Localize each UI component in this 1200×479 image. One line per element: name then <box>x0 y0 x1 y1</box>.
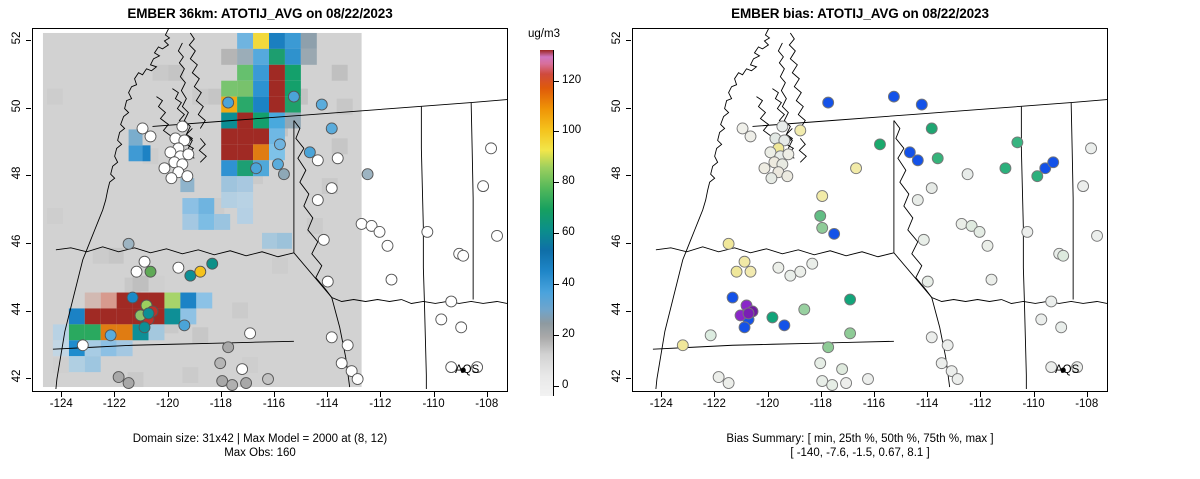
y-axis-tick <box>626 311 631 312</box>
y-axis-label: 48 <box>611 158 623 188</box>
y-axis-tick <box>626 243 631 244</box>
colorbar-tick-label: 80 <box>562 175 575 187</box>
x-axis-tick <box>327 392 328 397</box>
colorbar-tick-label: 100 <box>562 124 581 136</box>
y-axis-label: 46 <box>611 226 623 256</box>
x-axis-label: -124 <box>41 398 81 410</box>
figure-root: EMBER 36km: ATOTIJ_AVG on 08/22/2023 <box>0 0 1200 479</box>
colorbar-tick-label: 60 <box>562 226 575 238</box>
x-axis-tick <box>1087 392 1088 397</box>
x-axis-tick <box>114 392 115 397</box>
x-axis-tick <box>487 392 488 397</box>
y-axis-tick <box>26 243 31 244</box>
y-axis-tick <box>26 108 31 109</box>
x-axis-label: -118 <box>801 398 841 410</box>
map-canvas-bias <box>633 29 1107 391</box>
x-axis-label: -114 <box>907 398 947 410</box>
colorbar-tick <box>553 182 559 183</box>
map-canvas-model <box>33 29 507 391</box>
aqs-legend-label-model: AQS <box>455 364 479 376</box>
x-axis-label: -112 <box>360 398 400 410</box>
colorbar-tick <box>553 81 559 82</box>
map-plot-model <box>32 28 508 392</box>
x-axis-label: -110 <box>1014 398 1054 410</box>
x-axis-tick <box>874 392 875 397</box>
x-axis-tick <box>61 392 62 397</box>
x-axis-tick <box>168 392 169 397</box>
x-axis-label: -124 <box>641 398 681 410</box>
y-axis-tick <box>626 108 631 109</box>
colorbar-units-model: ug/m3 <box>528 28 560 40</box>
x-axis-tick <box>380 392 381 397</box>
y-axis-label: 46 <box>11 226 23 256</box>
y-axis-tick <box>26 311 31 312</box>
colorbar-tick <box>553 284 559 285</box>
panel-title-model: EMBER 36km: ATOTIJ_AVG on 08/22/2023 <box>0 6 520 21</box>
x-axis-tick <box>927 392 928 397</box>
caption-bias-summary-values: [ -140, -7.6, -1.5, 0.67, 8.1 ] <box>600 446 1120 460</box>
x-axis-tick <box>274 392 275 397</box>
x-axis-label: -112 <box>960 398 1000 410</box>
colorbar-tick <box>553 386 559 387</box>
colorbar-tick-label: 0 <box>562 379 568 391</box>
x-axis-label: -118 <box>201 398 241 410</box>
x-axis-tick <box>768 392 769 397</box>
colorbar-gradient-model <box>540 50 553 396</box>
x-axis-label: -110 <box>414 398 454 410</box>
y-axis-tick <box>626 175 631 176</box>
x-axis-tick <box>434 392 435 397</box>
x-axis-label: -122 <box>94 398 134 410</box>
y-axis-label: 42 <box>11 361 23 391</box>
y-axis-tick <box>26 175 31 176</box>
y-axis-tick <box>26 378 31 379</box>
x-axis-label: -116 <box>254 398 294 410</box>
y-axis-tick <box>26 40 31 41</box>
x-axis-tick <box>1034 392 1035 397</box>
x-axis-label: -114 <box>307 398 347 410</box>
panel-bias: EMBER bias: ATOTIJ_AVG on 08/22/2023 <box>600 0 1200 479</box>
x-axis-label: -108 <box>1067 398 1107 410</box>
y-axis-label: 50 <box>11 91 23 121</box>
x-axis-tick <box>661 392 662 397</box>
y-axis-label: 52 <box>11 23 23 53</box>
x-axis-tick <box>221 392 222 397</box>
y-axis-label: 44 <box>11 294 23 324</box>
colorbar-tick-label: 120 <box>562 74 581 86</box>
caption-max-obs: Max Obs: 160 <box>0 446 520 460</box>
x-axis-label: -108 <box>467 398 507 410</box>
colorbar-tick-label: 20 <box>562 328 575 340</box>
map-plot-bias <box>632 28 1108 392</box>
y-axis-label: 48 <box>11 158 23 188</box>
bias-background <box>633 29 1107 391</box>
y-axis-label: 50 <box>611 91 623 121</box>
colorbar-tick-label: 40 <box>562 277 575 289</box>
caption-domain-size: Domain size: 31x42 | Max Model = 2000 at… <box>0 432 520 446</box>
x-axis-label: -120 <box>748 398 788 410</box>
x-axis-tick <box>821 392 822 397</box>
y-axis-label: 52 <box>611 23 623 53</box>
x-axis-tick <box>980 392 981 397</box>
caption-bias-summary-header: Bias Summary: [ min, 25th %, 50th %, 75t… <box>600 432 1120 446</box>
colorbar-tick <box>553 335 559 336</box>
x-axis-label: -116 <box>854 398 894 410</box>
panel-title-bias: EMBER bias: ATOTIJ_AVG on 08/22/2023 <box>600 6 1120 21</box>
y-axis-tick <box>626 40 631 41</box>
y-axis-tick <box>626 378 631 379</box>
colorbar-tick <box>553 131 559 132</box>
y-axis-label: 44 <box>611 294 623 324</box>
x-axis-label: -120 <box>148 398 188 410</box>
panel-model: EMBER 36km: ATOTIJ_AVG on 08/22/2023 <box>0 0 600 479</box>
colorbar-tick <box>553 233 559 234</box>
x-axis-tick <box>714 392 715 397</box>
colorbar-axis-model <box>553 50 554 396</box>
x-axis-label: -122 <box>694 398 734 410</box>
y-axis-label: 42 <box>611 361 623 391</box>
aqs-legend-label-bias: AQS <box>1055 364 1079 376</box>
